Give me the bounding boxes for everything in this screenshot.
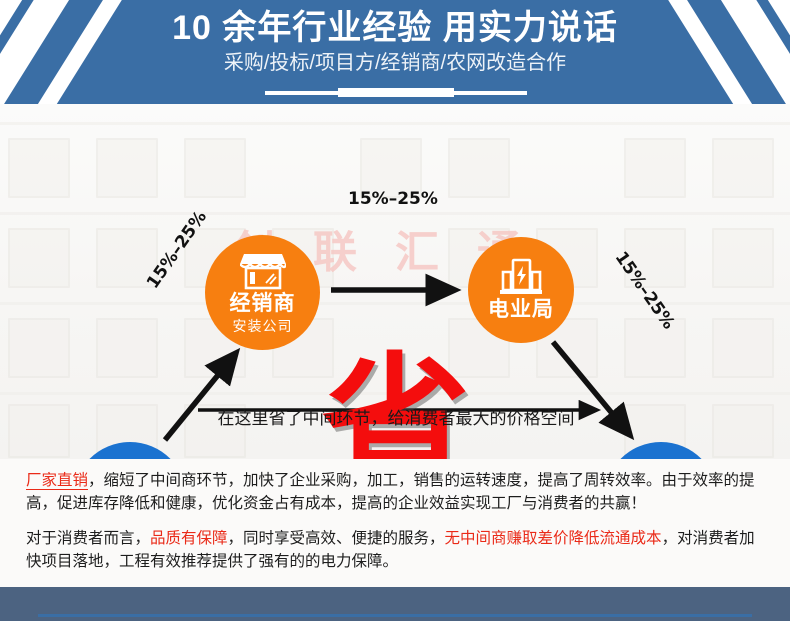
node-dealer-label: 经销商 — [230, 292, 296, 316]
paragraph-2-mid: ，同时享受高效、便捷的服务， — [228, 530, 445, 547]
header-subtitle: 采购/投标/项目方/经销商/农网改造合作 — [150, 48, 640, 76]
paragraph-2-lead: 对于消费者而言， — [26, 530, 150, 547]
paragraph-2-highlight-2: 无中间商赚取差价降低流通成本 — [445, 530, 662, 547]
footer-accent-line — [38, 614, 752, 617]
node-dealer-sublabel: 安装公司 — [233, 317, 293, 335]
footer-bar — [0, 587, 790, 621]
watermark-text: 创联汇通 — [0, 216, 790, 280]
arrow-label-dealer-to-bureau: 15%–25% — [348, 189, 438, 209]
power-plant-icon — [499, 258, 543, 296]
node-bureau-label: 电业局 — [488, 298, 554, 322]
header-title: 10 余年行业经验 用实力说话 — [150, 0, 640, 48]
paragraph-1-highlight: 厂家直销 — [26, 472, 88, 490]
header-text-block: 10 余年行业经验 用实力说话 采购/投标/项目方/经销商/农网改造合作 — [150, 0, 640, 104]
node-bureau[interactable]: 电业局 — [468, 237, 574, 343]
promo-banner: 10 余年行业经验 用实力说话 采购/投标/项目方/经销商/农网改造合作 — [0, 0, 790, 621]
header-banner: 10 余年行业经验 用实力说话 采购/投标/项目方/经销商/农网改造合作 — [0, 0, 790, 104]
header-divider-cap — [338, 88, 454, 97]
paragraph-1-rest: ，缩短了中间商环节，加快了企业采购，加工，销售的运转速度，提高了周转效率。由于效… — [26, 472, 755, 512]
shop-icon — [240, 250, 286, 290]
diagram-bottom-caption: 在这里省了中间环节，给消费者最大的价格空间 — [196, 408, 596, 430]
paragraph-2-highlight-1: 品质有保障 — [150, 530, 228, 547]
center-save-character: 省 — [322, 352, 470, 459]
paragraph-2: 对于消费者而言，品质有保障，同时享受高效、便捷的服务，无中间商赚取差价降低流通成… — [26, 527, 770, 573]
copy-block: 厂家直销，缩短了中间商环节，加快了企业采购，加工，销售的运转速度，提高了周转效率… — [0, 459, 790, 587]
paragraph-1: 厂家直销，缩短了中间商环节，加快了企业采购，加工，销售的运转速度，提高了周转效率… — [26, 469, 770, 515]
diagram-stage: 创联汇通 15%–25% 15%–25% 15%–25% 省 — [0, 104, 790, 459]
node-dealer[interactable]: 经销商 安装公司 — [205, 235, 320, 350]
